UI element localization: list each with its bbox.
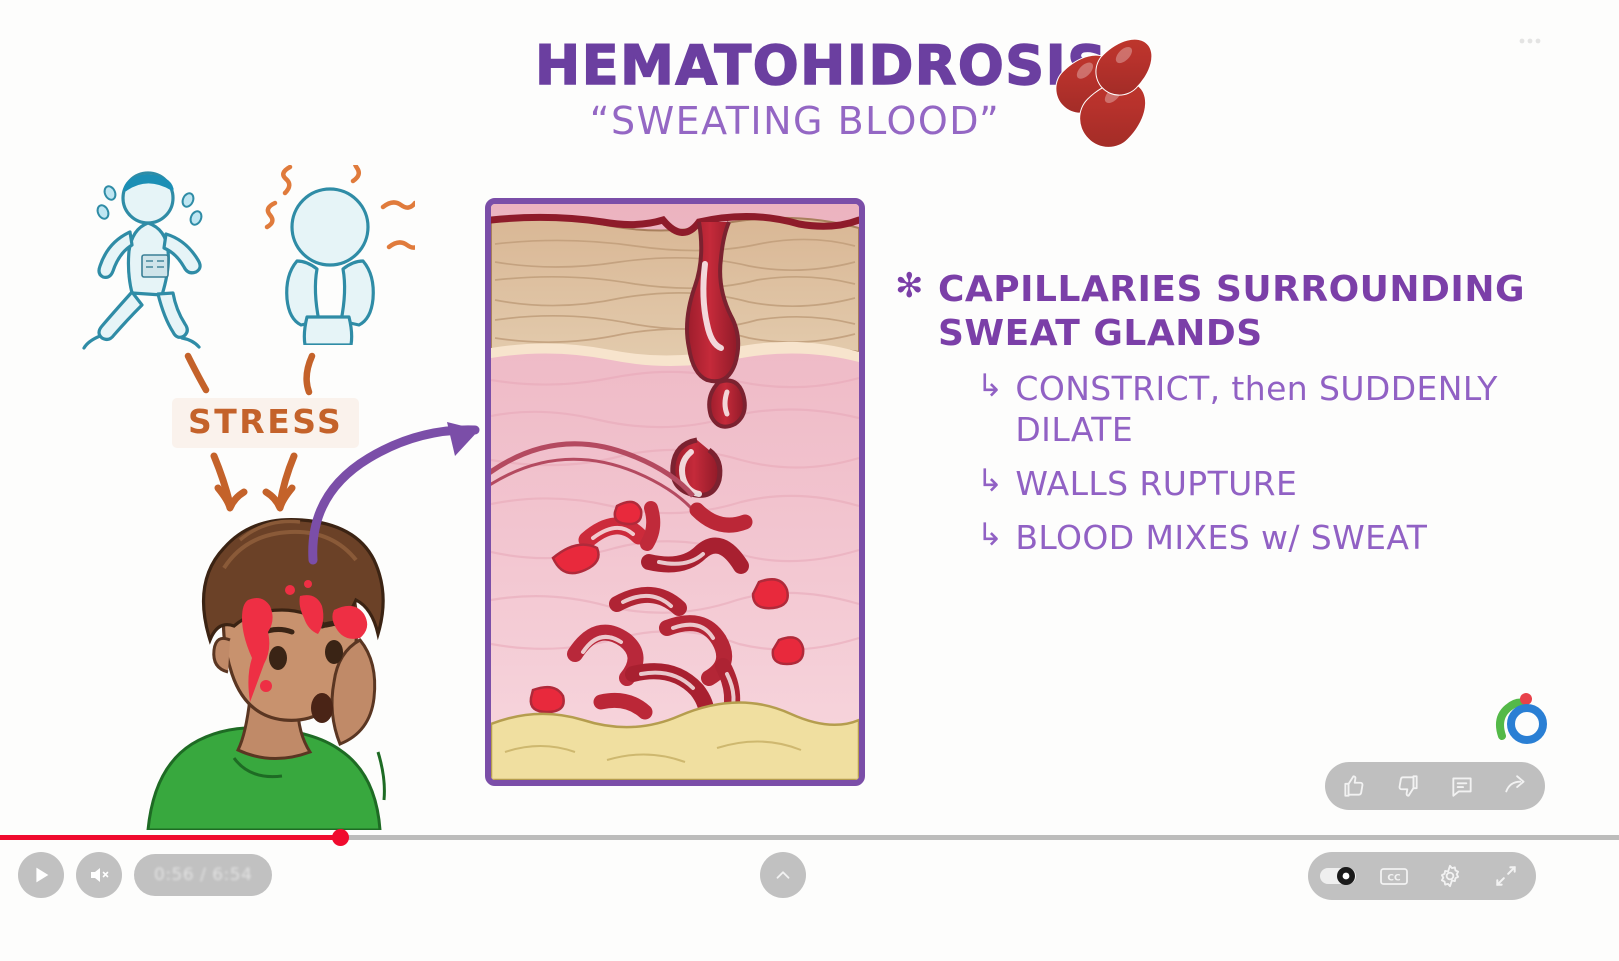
notes-list: ✻ CAPILLARIES SURROUNDING SWEAT GLANDS ↳… bbox=[895, 268, 1595, 558]
sub-arrow-icon: ↳ bbox=[977, 368, 1003, 405]
video-progress-bar[interactable] bbox=[0, 835, 1619, 840]
note-sub-text: WALLS RUPTURE bbox=[1015, 463, 1297, 505]
note-sub-bullet: ↳ CONSTRICT, then SUDDENLY DILATE bbox=[977, 368, 1595, 451]
player-controls-right: CC bbox=[1308, 852, 1536, 900]
progress-knob[interactable] bbox=[332, 829, 349, 846]
skin-cross-section-diagram bbox=[485, 198, 865, 786]
svg-text:CC: CC bbox=[1387, 874, 1401, 884]
captions-button[interactable]: CC bbox=[1374, 856, 1414, 896]
curved-purple-arrow-icon bbox=[295, 420, 495, 580]
share-button[interactable] bbox=[1493, 763, 1539, 809]
settings-button[interactable] bbox=[1430, 856, 1470, 896]
comment-button[interactable] bbox=[1439, 763, 1485, 809]
anxious-person-icon bbox=[245, 165, 415, 345]
note-main-bullet: ✻ CAPILLARIES SURROUNDING SWEAT GLANDS bbox=[895, 268, 1595, 356]
page-subtitle: “SWEATING BLOOD” bbox=[535, 99, 1055, 143]
note-sub-text: CONSTRICT, then SUDDENLY DILATE bbox=[1015, 368, 1595, 451]
title-block: HEMATOHIDROSIS “SWEATING BLOOD” bbox=[535, 38, 1055, 143]
page-title: HEMATOHIDROSIS bbox=[535, 38, 1055, 95]
time-text: 0:56 / 6:54 bbox=[154, 865, 252, 885]
dislike-button[interactable] bbox=[1385, 763, 1431, 809]
like-button[interactable] bbox=[1331, 763, 1377, 809]
expand-panel-button[interactable] bbox=[760, 852, 806, 898]
sub-arrow-icon: ↳ bbox=[977, 463, 1003, 500]
note-sub-bullet: ↳ BLOOD MIXES w/ SWEAT bbox=[977, 517, 1595, 559]
note-sub-text: BLOOD MIXES w/ SWEAT bbox=[1015, 517, 1427, 559]
progress-fill bbox=[0, 835, 340, 840]
autoplay-toggle[interactable] bbox=[1318, 856, 1358, 896]
sub-arrow-icon: ↳ bbox=[977, 517, 1003, 554]
engagement-actions-bar bbox=[1325, 762, 1545, 810]
video-player-stage: HEMATOHIDROSIS “SWEATING BLOOD” bbox=[0, 0, 1619, 961]
asterisk-icon: ✻ bbox=[895, 268, 924, 305]
time-display: 0:56 / 6:54 bbox=[134, 854, 272, 896]
channel-watermark-logo[interactable] bbox=[1492, 690, 1548, 746]
note-main-text: CAPILLARIES SURROUNDING SWEAT GLANDS bbox=[938, 268, 1595, 356]
fullscreen-button[interactable] bbox=[1486, 856, 1526, 896]
note-sub-bullet: ↳ WALLS RUPTURE bbox=[977, 463, 1595, 505]
more-options-icon[interactable] bbox=[1515, 28, 1545, 54]
player-controls-left: 0:56 / 6:54 bbox=[18, 852, 272, 898]
mute-button[interactable] bbox=[76, 852, 122, 898]
blood-drops-icon bbox=[1055, 30, 1185, 160]
running-person-icon bbox=[70, 160, 230, 360]
play-button[interactable] bbox=[18, 852, 64, 898]
